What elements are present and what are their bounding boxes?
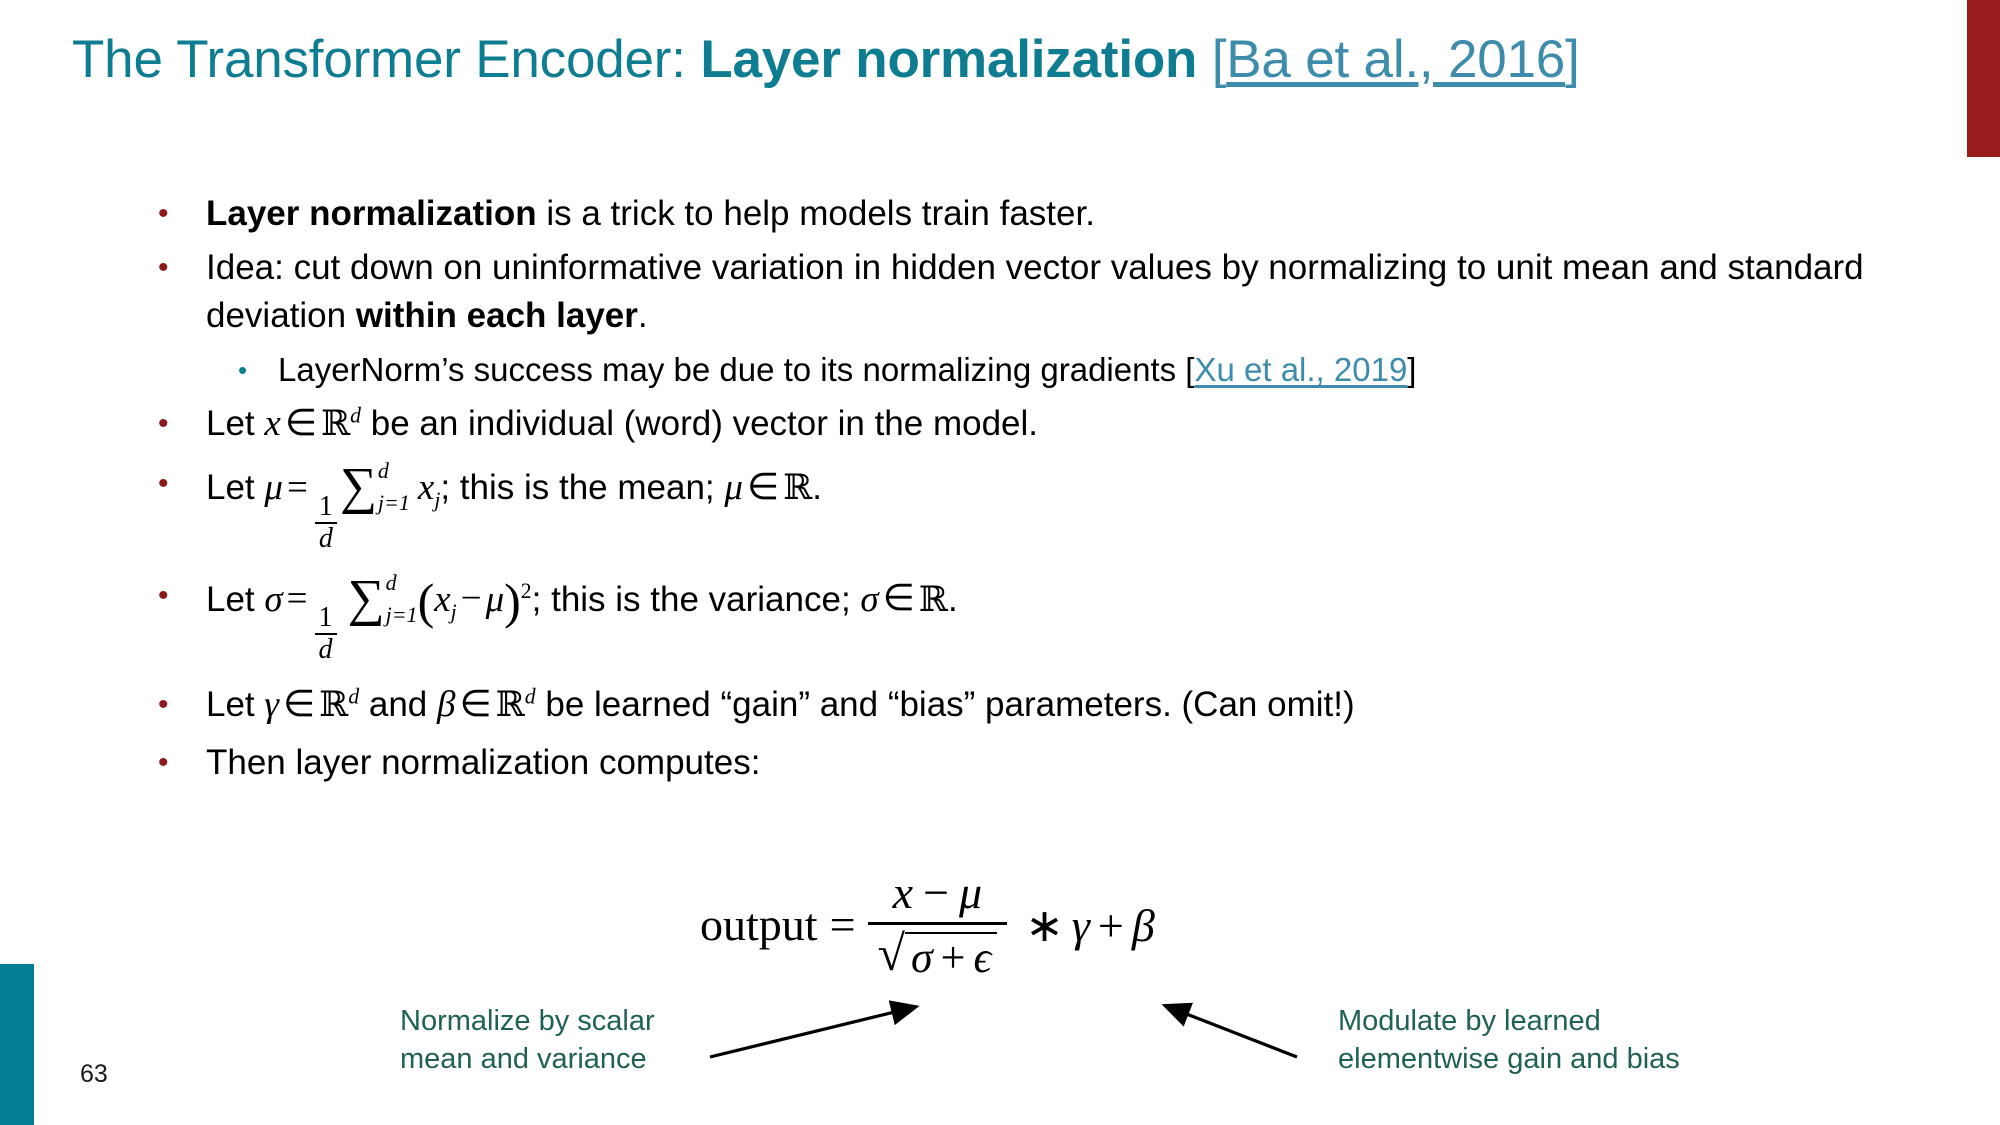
- decor-bar-bottom-left: [0, 964, 34, 1125]
- math-member-of: ∈: [279, 684, 319, 725]
- formula-denominator: √σ+ϵ: [868, 922, 1008, 981]
- decor-bar-top-right: [1967, 0, 2000, 157]
- summation-lower-limit: j=1: [386, 604, 418, 626]
- summation-lower-limit: j=1: [378, 492, 410, 514]
- math-var-sigma: σ: [264, 578, 282, 619]
- bullet-marker-icon: •: [150, 400, 206, 448]
- bullet-marker-icon: •: [150, 739, 206, 787]
- summation-upper-limit: d: [386, 572, 418, 594]
- b6-lead: Let: [206, 685, 264, 724]
- fraction-denominator: d: [315, 633, 337, 665]
- xu-citation-link[interactable]: Xu et al., 2019: [1194, 351, 1407, 388]
- math-dim-d: d: [348, 684, 359, 708]
- formula-den-epsilon: ϵ: [974, 933, 992, 982]
- bullet-2-bold: within each layer: [356, 296, 638, 335]
- annotation-modulate: Modulate by learned elementwise gain and…: [1338, 1002, 1778, 1078]
- math-member-of: ∈: [743, 467, 783, 508]
- math-paren-open: (: [418, 572, 435, 628]
- bullet-marker-icon: •: [150, 244, 206, 292]
- math-real-set: ℝ: [496, 685, 525, 725]
- formula-fraction: x−μ √σ+ϵ: [868, 868, 1008, 981]
- formula-radicand: σ+ϵ: [905, 932, 997, 981]
- math-summation: ∑dj=1: [348, 572, 418, 626]
- math-var-gamma: γ: [264, 684, 279, 725]
- math-exponent-2: 2: [521, 579, 532, 603]
- math-real-set: ℝ: [321, 404, 350, 444]
- formula-tail: ∗γ+β: [1007, 898, 1155, 952]
- formula-times: ∗: [1017, 900, 1072, 951]
- sigma-summation-icon: ∑: [348, 577, 385, 621]
- math-var-mu: μ: [264, 467, 283, 508]
- b4-tail: ; this is the mean;: [440, 468, 724, 507]
- bullet-1-rest: is a trick to help models train faster.: [537, 194, 1095, 233]
- title-bracket-close: ]: [1565, 30, 1580, 89]
- b4-lead: Let: [206, 468, 264, 507]
- arrow-left-to-denominator: [710, 1007, 915, 1057]
- fraction-numerator: 1: [315, 603, 337, 633]
- bullet-marker-icon: •: [150, 190, 206, 238]
- math-fraction-one-over-d: 1d: [315, 603, 337, 665]
- formula-sqrt: √σ+ϵ: [878, 927, 998, 981]
- math-var-mu-2: μ: [724, 467, 743, 508]
- formula-den-plus: +: [933, 933, 974, 982]
- bullet-text-4: Let μ=1d∑dj=1xj; this is the mean; μ∈ℝ.: [206, 460, 1950, 554]
- bullet-item-2: • Idea: cut down on uninformative variat…: [150, 244, 1950, 340]
- formula-plus: +: [1090, 900, 1132, 951]
- title-prefix: The Transformer Encoder:: [72, 30, 700, 89]
- slide-body: • Layer normalization is a trick to help…: [150, 190, 1950, 793]
- formula-den-sigma: σ: [911, 933, 933, 982]
- annotation-modulate-line1: Modulate by learned: [1338, 1002, 1778, 1040]
- math-term-subscript-j: j: [451, 599, 457, 623]
- annotation-normalize-line1: Normalize by scalar: [400, 1002, 740, 1040]
- radical-icon: √: [878, 927, 905, 981]
- bullet-marker-icon: •: [150, 572, 206, 620]
- bullet-item-5: • Let σ=1d∑dj=1(xj−μ)2; this is the vari…: [150, 572, 1950, 666]
- bullet-item-6: • Let γ∈ℝd and β∈ℝd be learned “gain” an…: [150, 681, 1950, 729]
- formula-lhs-output: output: [700, 898, 818, 951]
- math-member-of: ∈: [281, 403, 321, 444]
- bullet-text-1: Layer normalization is a trick to help m…: [206, 190, 1950, 238]
- layernorm-formula: output = x−μ √σ+ϵ ∗γ+β: [700, 868, 1155, 981]
- slide-title: The Transformer Encoder: Layer normaliza…: [72, 28, 1932, 92]
- bullet-item-1: • Layer normalization is a trick to help…: [150, 190, 1950, 238]
- page-number: 63: [80, 1060, 108, 1089]
- bullet-marker-icon: •: [150, 460, 206, 508]
- math-paren-close: ): [504, 572, 521, 628]
- b3-lead: Let: [206, 404, 264, 443]
- math-fraction-one-over-d: 1d: [315, 492, 337, 554]
- math-real-set: ℝ: [919, 579, 948, 619]
- annotation-normalize: Normalize by scalar mean and variance: [400, 1002, 740, 1078]
- bullet-item-7: • Then layer normalization computes:: [150, 739, 1950, 787]
- title-emphasis: Layer normalization: [700, 30, 1197, 89]
- fraction-numerator: 1: [315, 492, 337, 522]
- bullet-text-2: Idea: cut down on uninformative variatio…: [206, 244, 1950, 340]
- bullet-text-6: Let γ∈ℝd and β∈ℝd be learned “gain” and …: [206, 681, 1950, 729]
- sub-bullet-tail: ]: [1407, 351, 1416, 388]
- b4-period: .: [812, 468, 822, 507]
- math-real-set: ℝ: [319, 685, 348, 725]
- math-minus: −: [457, 578, 486, 619]
- bullet-text-5: Let σ=1d∑dj=1(xj−μ)2; this is the varian…: [206, 572, 1950, 666]
- bullet-text-2-sub: LayerNorm’s success may be due to its no…: [278, 346, 1950, 394]
- b3-tail: be an individual (word) vector in the mo…: [361, 404, 1038, 443]
- formula-beta: β: [1132, 900, 1155, 951]
- sub-bullet-lead: LayerNorm’s success may be due to its no…: [278, 351, 1194, 388]
- math-real-set: ℝ: [783, 468, 812, 508]
- annotation-modulate-line2: elementwise gain and bias: [1338, 1040, 1778, 1078]
- summation-limits: dj=1: [386, 572, 418, 626]
- formula-num-minus: −: [913, 867, 959, 918]
- b5-lead: Let: [206, 579, 264, 618]
- fraction-denominator: d: [315, 522, 337, 554]
- math-summation: ∑dj=1: [340, 460, 410, 514]
- math-var-mu: μ: [486, 578, 505, 619]
- b6-mid: and: [359, 685, 437, 724]
- math-var-sigma-2: σ: [860, 578, 878, 619]
- math-var-x: x: [264, 403, 280, 444]
- summation-upper-limit: d: [378, 460, 410, 482]
- summation-limits: dj=1: [378, 460, 410, 514]
- formula-gamma: γ: [1072, 900, 1090, 951]
- title-bracket-open: [: [1197, 30, 1226, 89]
- arrow-right-to-gamma-beta: [1166, 1006, 1297, 1057]
- bullet-marker-icon: •: [150, 681, 206, 729]
- bullet-text-3: Let x∈ℝd be an individual (word) vector …: [206, 400, 1950, 448]
- title-citation-link[interactable]: Ba et al., 2016: [1226, 30, 1565, 89]
- formula-equals: =: [818, 898, 868, 951]
- formula-num-x: x: [893, 867, 913, 918]
- math-dim-d: d: [525, 684, 536, 708]
- bullet-2-tail: .: [638, 296, 648, 335]
- math-dim-d: d: [350, 403, 361, 427]
- math-equals: =: [283, 467, 312, 508]
- annotation-normalize-line2: mean and variance: [400, 1040, 740, 1078]
- slide-canvas: The Transformer Encoder: Layer normaliza…: [0, 0, 2000, 1125]
- bullet-1-bold: Layer normalization: [206, 194, 537, 233]
- math-equals: =: [283, 578, 312, 619]
- b6-tail: be learned “gain” and “bias” parameters.…: [536, 685, 1355, 724]
- math-term-x: x: [410, 467, 434, 508]
- bullet-item-2-sub: • LayerNorm’s success may be due to its …: [230, 346, 1950, 394]
- math-term-x: x: [434, 578, 450, 619]
- formula-numerator: x−μ: [879, 868, 996, 922]
- formula-num-mu: μ: [959, 867, 982, 918]
- bullet-item-3: • Let x∈ℝd be an individual (word) vecto…: [150, 400, 1950, 448]
- sub-bullet-marker-icon: •: [230, 346, 278, 394]
- sigma-summation-icon: ∑: [340, 465, 377, 509]
- b5-period: .: [948, 579, 958, 618]
- bullet-item-4: • Let μ=1d∑dj=1xj; this is the mean; μ∈ℝ…: [150, 460, 1950, 554]
- bullet-text-7: Then layer normalization computes:: [206, 739, 1950, 787]
- math-var-beta: β: [437, 684, 455, 725]
- math-member-of: ∈: [455, 684, 495, 725]
- math-member-of: ∈: [879, 578, 919, 619]
- b5-tail: ; this is the variance;: [532, 579, 861, 618]
